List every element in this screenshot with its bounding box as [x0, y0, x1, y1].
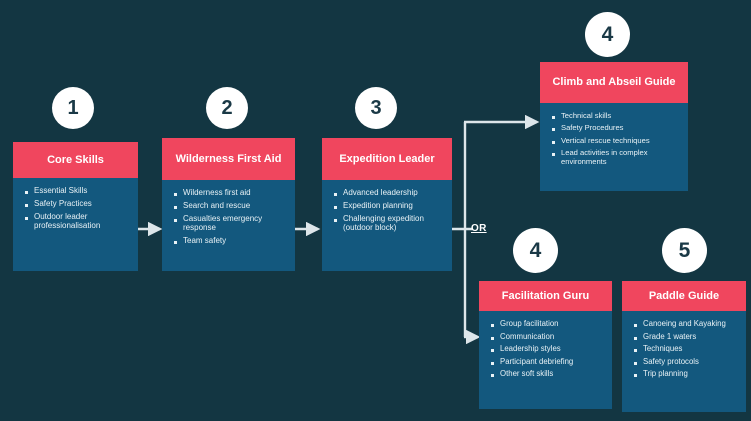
card-paddle-guide[interactable]: Paddle Guide Canoeing and Kayaking Grade…: [622, 281, 746, 412]
list-item: Wilderness first aid: [183, 188, 289, 198]
step-number-4-climb: 4: [585, 12, 630, 57]
card-title: Climb and Abseil Guide: [540, 62, 688, 103]
list-item: Communication: [500, 332, 606, 342]
step-number-1: 1: [52, 87, 94, 129]
or-label: OR: [471, 223, 487, 234]
card-body: Technical skills Safety Procedures Verti…: [540, 103, 688, 177]
card-facilitation-guru[interactable]: Facilitation Guru Group facilitation Com…: [479, 281, 612, 409]
card-body: Wilderness first aid Search and rescue C…: [162, 180, 295, 257]
card-title: Expedition Leader: [322, 138, 452, 180]
list-item: Advanced leadership: [343, 188, 446, 198]
step-number-label: 1: [67, 97, 78, 120]
list-item: Vertical rescue techniques: [561, 136, 682, 145]
list-item: Safety Procedures: [561, 123, 682, 132]
list-item: Team safety: [183, 236, 289, 246]
card-body: Canoeing and Kayaking Grade 1 waters Tec…: [622, 311, 746, 390]
card-title: Wilderness First Aid: [162, 138, 295, 180]
card-body: Essential Skills Safety Practices Outdoo…: [13, 178, 138, 242]
step-number-2: 2: [206, 87, 248, 129]
step-number-3: 3: [355, 87, 397, 129]
card-wilderness-first-aid[interactable]: Wilderness First Aid Wilderness first ai…: [162, 138, 295, 271]
list-item: Technical skills: [561, 111, 682, 120]
step-number-4-facilitation: 4: [513, 228, 558, 273]
card-title: Facilitation Guru: [479, 281, 612, 311]
list-item: Techniques: [643, 344, 740, 354]
card-body: Advanced leadership Expedition planning …: [322, 180, 452, 244]
step-number-label: 4: [530, 239, 542, 263]
step-number-label: 4: [602, 23, 614, 47]
list-item: Casualties emergency response: [183, 214, 289, 234]
list-item: Other soft skills: [500, 369, 606, 379]
list-item: Outdoor leader professionalisation: [34, 212, 132, 232]
list-item: Lead activities in complex environments: [561, 148, 682, 167]
card-expedition-leader[interactable]: Expedition Leader Advanced leadership Ex…: [322, 138, 452, 271]
card-climb-and-abseil-guide[interactable]: Climb and Abseil Guide Technical skills …: [540, 62, 688, 191]
list-item: Trip planning: [643, 369, 740, 379]
step-number-label: 3: [370, 97, 381, 120]
list-item: Leadership styles: [500, 344, 606, 354]
card-core-skills[interactable]: Core Skills Essential Skills Safety Prac…: [13, 142, 138, 271]
list-item: Challenging expedition (outdoor block): [343, 214, 446, 234]
step-number-label: 5: [679, 239, 691, 263]
card-title: Core Skills: [13, 142, 138, 178]
list-item: Search and rescue: [183, 201, 289, 211]
list-item: Canoeing and Kayaking: [643, 319, 740, 329]
list-item: Safety Practices: [34, 199, 132, 209]
list-item: Grade 1 waters: [643, 332, 740, 342]
list-item: Group facilitation: [500, 319, 606, 329]
diagram-canvas: 1 Core Skills Essential Skills Safety Pr…: [0, 0, 751, 421]
step-number-5-paddle: 5: [662, 228, 707, 273]
card-body: Group facilitation Communication Leaders…: [479, 311, 612, 390]
card-title: Paddle Guide: [622, 281, 746, 311]
step-number-label: 2: [221, 97, 232, 120]
list-item: Participant debriefing: [500, 357, 606, 367]
list-item: Essential Skills: [34, 186, 132, 196]
list-item: Safety protocols: [643, 357, 740, 367]
list-item: Expedition planning: [343, 201, 446, 211]
